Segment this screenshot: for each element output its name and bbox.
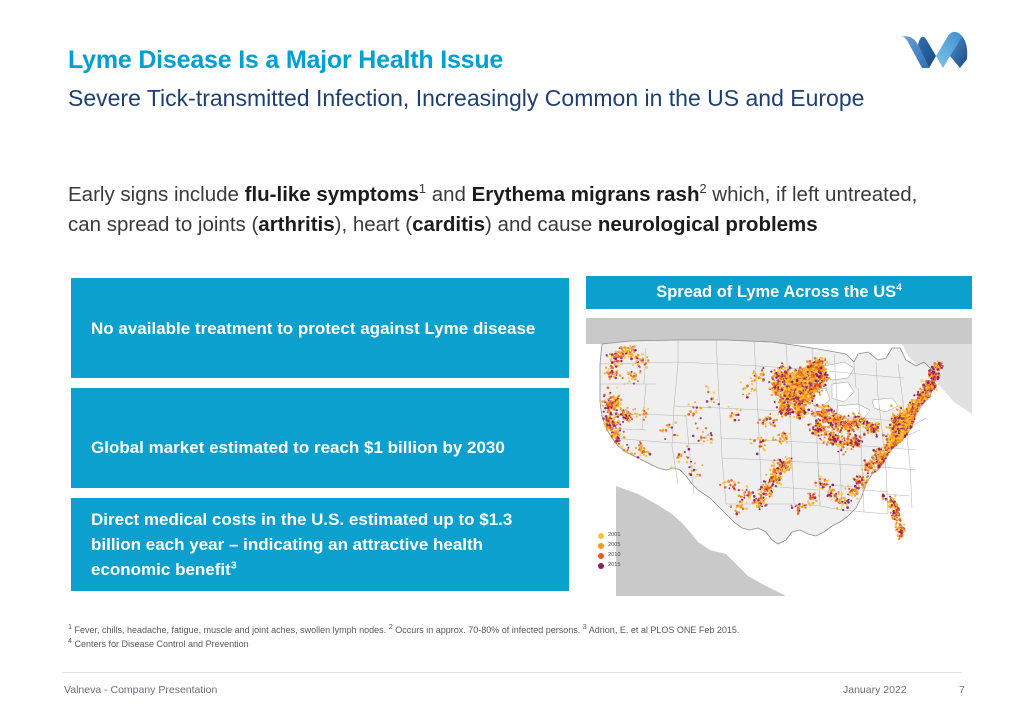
footnote-line-2: 4 Centers for Disease Control and Preven… xyxy=(68,638,958,652)
body-run: Early signs include xyxy=(68,183,245,206)
legend-swatch-icon xyxy=(598,543,604,549)
page-title: Lyme Disease Is a Major Health Issue xyxy=(68,46,503,75)
valneva-logo xyxy=(898,28,970,72)
legend-label: 2005 xyxy=(608,541,620,550)
page-subtitle: Severe Tick-transmitted Infection, Incre… xyxy=(68,82,878,115)
body-superscript: 1 xyxy=(419,181,426,196)
footnote-text: Occurs in approx. 70-80% of infected per… xyxy=(393,625,583,635)
legend-swatch-icon xyxy=(598,533,604,539)
legend-swatch-icon xyxy=(598,563,604,569)
legend-item-2005: 2005 xyxy=(598,541,620,550)
legend-swatch-icon xyxy=(598,553,604,559)
footnote-text: Adrion, E. et al PLOS ONE Feb 2015. xyxy=(587,625,740,635)
body-paragraph: Early signs include flu-like symptoms1 a… xyxy=(68,180,938,240)
map-header-superscript: 4 xyxy=(896,283,902,294)
legend-item-2001: 2001 xyxy=(598,531,620,540)
callout-box-treatment: No available treatment to protect agains… xyxy=(71,278,569,378)
map-header-bar: Spread of Lyme Across the US4 xyxy=(586,276,972,309)
footer-date: January 2022 xyxy=(843,684,907,696)
legend-label: 2010 xyxy=(608,551,620,560)
footnote-line-1: 1 Fever, chills, headache, fatigue, musc… xyxy=(68,624,958,638)
legend-item-2010: 2010 xyxy=(598,551,620,560)
callout-superscript: 3 xyxy=(231,559,237,571)
body-emphasis: arthritis xyxy=(258,213,334,236)
footer-presentation-name: Valneva - Company Presentation xyxy=(64,684,217,696)
callout-box-costs: Direct medical costs in the U.S. estimat… xyxy=(71,498,569,591)
footer-divider xyxy=(62,672,962,673)
lyme-spread-map xyxy=(586,318,972,596)
footnotes: 1 Fever, chills, headache, fatigue, musc… xyxy=(68,624,958,651)
map-header-title: Spread of Lyme Across the US4 xyxy=(656,283,902,302)
body-run: ), heart ( xyxy=(335,213,412,236)
legend-item-2015: 2015 xyxy=(598,561,620,570)
callout-text: No available treatment to protect agains… xyxy=(91,316,535,341)
callout-text: Global market estimated to reach $1 bill… xyxy=(91,435,505,460)
body-emphasis: neurological problems xyxy=(598,213,818,236)
body-emphasis: Erythema migrans rash xyxy=(472,183,700,206)
body-emphasis: carditis xyxy=(412,213,485,236)
legend-label: 2015 xyxy=(608,561,620,570)
body-run: ) and cause xyxy=(485,213,598,236)
callout-box-market: Global market estimated to reach $1 bill… xyxy=(71,388,569,488)
footer-page-number: 7 xyxy=(959,684,965,696)
callout-text: Direct medical costs in the U.S. estimat… xyxy=(91,507,549,582)
body-run: and xyxy=(426,183,472,206)
map-legend: 2001200520102015 xyxy=(598,531,620,570)
legend-label: 2001 xyxy=(608,531,620,540)
body-superscript: 2 xyxy=(699,181,706,196)
body-emphasis: flu-like symptoms xyxy=(245,183,419,206)
footnote-text: Centers for Disease Control and Preventi… xyxy=(72,639,249,649)
footnote-text: Fever, chills, headache, fatigue, muscle… xyxy=(72,625,389,635)
